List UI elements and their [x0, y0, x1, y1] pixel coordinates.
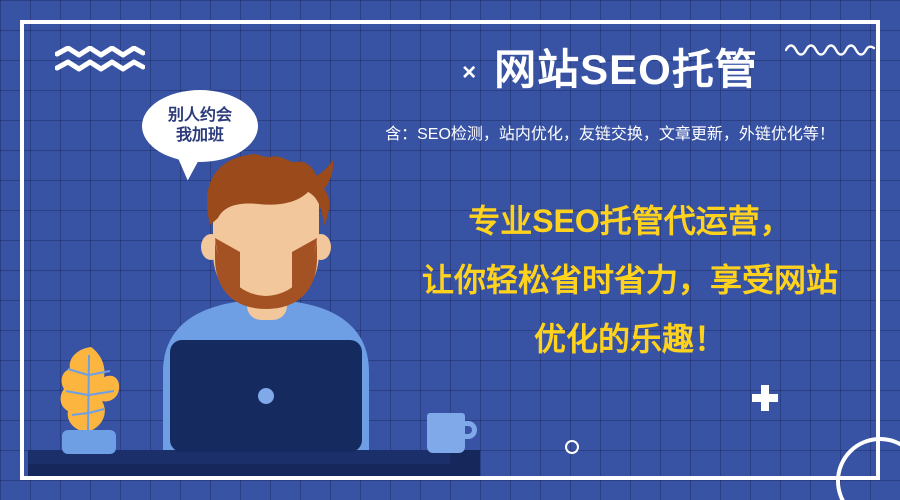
- plus-sign-icon: [752, 385, 778, 411]
- coffee-mug: [427, 413, 465, 453]
- plant-pot: [62, 430, 116, 454]
- laptop-logo-icon: [258, 388, 274, 404]
- seo-promo-banner: 别人约会 我加班 × 网站SEO托管 含：SEO检测，站内优化，友链交换，文章更…: [0, 0, 900, 500]
- speech-bubble-line-1: 别人约会: [168, 106, 232, 126]
- speech-bubble-line-2: 我加班: [176, 126, 224, 146]
- border-frame: [20, 20, 880, 480]
- small-circle-outline-icon: [565, 440, 579, 454]
- speech-bubble: 别人约会 我加班: [142, 90, 258, 162]
- plant-leaf-icon: [58, 345, 124, 437]
